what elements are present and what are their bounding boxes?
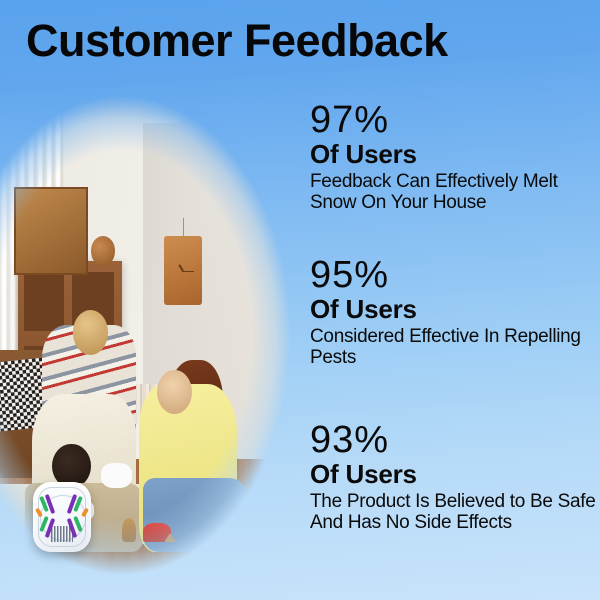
toy xyxy=(122,518,136,543)
stat-percent: 95% xyxy=(310,255,596,295)
page-title: Customer Feedback xyxy=(26,10,448,72)
stat-percent: 97% xyxy=(310,100,596,140)
stat-description: Considered Effective In Repelling Pests xyxy=(310,326,596,368)
stat-percent: 93% xyxy=(310,420,596,460)
stat-of-users: Of Users xyxy=(310,140,596,168)
stat-block: 97% Of Users Feedback Can Effectively Me… xyxy=(310,100,596,213)
customer-feedback-poster: Customer Feedback xyxy=(0,0,600,600)
pest-repeller-device xyxy=(33,482,91,552)
picture-frame-icon xyxy=(14,187,88,275)
ceiling xyxy=(41,88,189,123)
clock-hand xyxy=(183,271,194,273)
vase xyxy=(91,236,115,266)
child-head xyxy=(73,310,108,354)
sock xyxy=(101,463,132,488)
toy xyxy=(164,533,176,542)
hanging-clock-icon xyxy=(164,236,202,305)
stat-description: Feedback Can Effectively Melt Snow On Yo… xyxy=(310,171,596,213)
shelf-cell xyxy=(24,272,64,331)
stat-of-users: Of Users xyxy=(310,295,596,323)
stat-of-users: Of Users xyxy=(310,460,596,488)
stat-block: 95% Of Users Considered Effective In Rep… xyxy=(310,255,596,368)
clock-hand xyxy=(178,264,184,272)
mother-head xyxy=(157,370,192,414)
stat-block: 93% Of Users The Product Is Believed to … xyxy=(310,420,596,533)
stat-description: The Product Is Believed to Be Safe And H… xyxy=(310,491,596,533)
